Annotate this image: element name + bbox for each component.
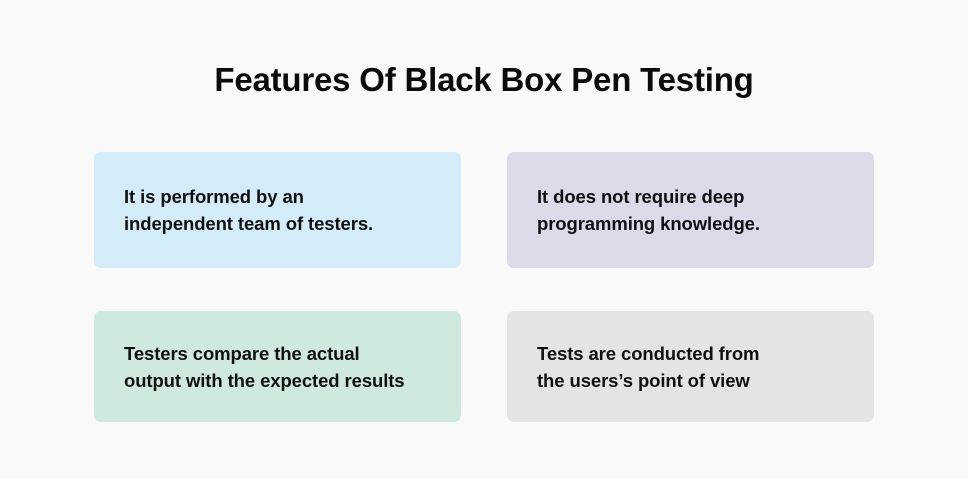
feature-card-independent-team: It is performed by an independent team o… [94, 152, 461, 268]
feature-card-compare-output: Testers compare the actual output with t… [94, 311, 461, 422]
slide-root: Features Of Black Box Pen Testing It is … [0, 0, 968, 479]
feature-card-text: Testers compare the actual output with t… [124, 340, 433, 394]
feature-card-text: It does not require deep programming kno… [537, 183, 846, 237]
feature-card-users-point-of-view: Tests are conducted from the users’s poi… [507, 311, 874, 422]
feature-card-text: It is performed by an independent team o… [124, 183, 433, 237]
feature-card-grid: It is performed by an independent team o… [94, 152, 874, 422]
page-title: Features Of Black Box Pen Testing [0, 58, 968, 102]
feature-card-no-deep-programming: It does not require deep programming kno… [507, 152, 874, 268]
feature-card-text: Tests are conducted from the users’s poi… [537, 340, 846, 394]
